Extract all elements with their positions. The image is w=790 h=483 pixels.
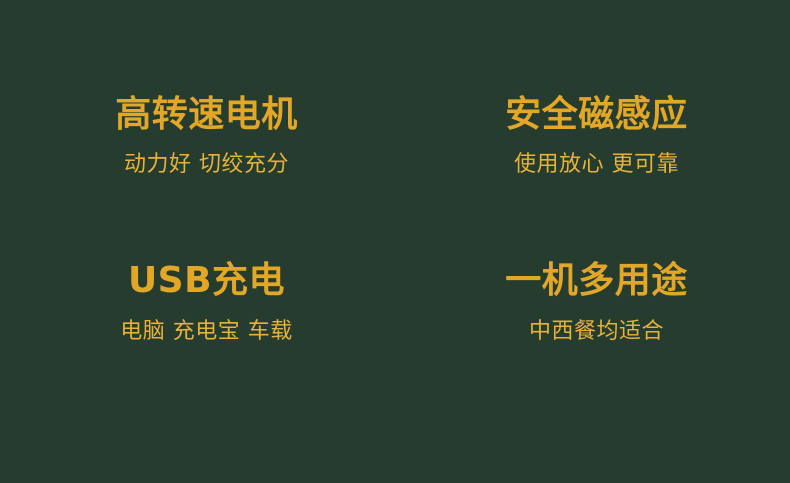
feature-grid: 高转速电机 动力好 切绞充分 安全磁感应 使用放心 更可靠 USB充电 电脑 充…	[0, 0, 790, 483]
feature-title: 高转速电机	[115, 96, 298, 135]
feature-item-usb-charging: USB充电 电脑 充电宝 车载	[0, 236, 395, 376]
feature-subtitle: 中西餐均适合	[529, 320, 664, 344]
feature-item-magnetic-safety: 安全磁感应 使用放心 更可靠	[395, 96, 790, 236]
feature-subtitle: 电脑 充电宝 车载	[120, 320, 293, 344]
feature-item-motor: 高转速电机 动力好 切绞充分	[0, 96, 395, 236]
feature-title: USB充电	[128, 262, 285, 301]
feature-item-multipurpose: 一机多用途 中西餐均适合	[395, 236, 790, 376]
feature-title: 安全磁感应	[505, 96, 688, 135]
feature-subtitle: 使用放心 更可靠	[514, 153, 679, 177]
feature-subtitle: 动力好 切绞充分	[124, 153, 289, 177]
feature-banner: 高转速电机 动力好 切绞充分 安全磁感应 使用放心 更可靠 USB充电 电脑 充…	[0, 0, 790, 483]
feature-title: 一机多用途	[505, 262, 688, 301]
